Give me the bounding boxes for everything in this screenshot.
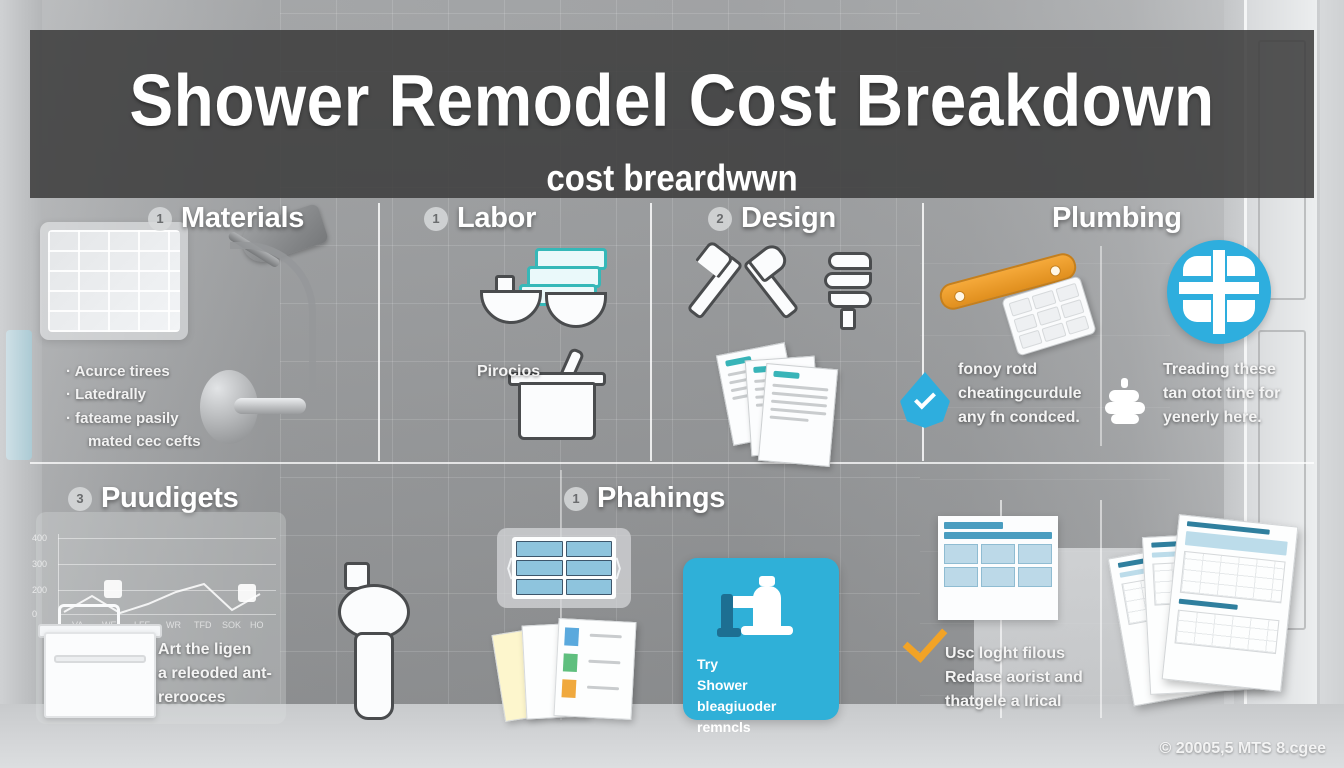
copyright-watermark: © 20005,5 MTS 8.cgee (1159, 740, 1326, 758)
faucet-icon (721, 576, 801, 640)
section-title-materials: Materials (181, 202, 304, 235)
section-badge: 2 (708, 207, 732, 231)
cta-line: remncls (697, 717, 829, 738)
note-line: cheatingcurdule (958, 382, 1088, 406)
plumbing-note-right: Treading these tan otot tine for yenerly… (1163, 358, 1313, 430)
chevron-left-icon[interactable]: ⟨ (505, 554, 514, 583)
sink-basin-icon (518, 382, 596, 440)
note-line: fonoy rotd (958, 358, 1088, 382)
chart-ytick: 0 (32, 609, 37, 619)
tile-swatch-card (40, 222, 188, 340)
cta-line: Try (697, 654, 829, 675)
chart-xtick: SOK (222, 620, 241, 630)
tablet-screen (512, 537, 616, 599)
chart-xtick: HO (250, 620, 264, 630)
note-line: yenerly here. (1163, 406, 1313, 430)
section-title-design: Design (741, 202, 836, 235)
divider-vertical-7 (1100, 500, 1102, 718)
section-design[interactable]: 2 Design (708, 202, 836, 235)
note-line: Usc loght filous (945, 642, 1095, 666)
chevron-right-icon[interactable]: ⟩ (614, 554, 623, 583)
caption-line: a releoded ant- (158, 662, 288, 686)
list-item: mated cec cefts (66, 430, 201, 453)
paper-pile-icon (1120, 520, 1320, 720)
list-item: · fateame pasily (66, 407, 201, 430)
note-line: Redase aorist and (945, 666, 1095, 690)
infographic-canvas: Shower Remodel Cost Breakdown cost brear… (0, 0, 1344, 768)
note-line: thatgele a lrical (945, 690, 1095, 714)
valve-circle-icon (1167, 240, 1271, 344)
divider-vertical-1 (378, 203, 380, 461)
materials-bullet-list: · Acurce tirees · Latedrally · fateame p… (66, 360, 201, 453)
plumbing-note-left: fonoy rotd cheatingcurdule any fn condce… (958, 358, 1088, 430)
note-line: any fn condced. (958, 406, 1088, 430)
section-title-labor: Labor (457, 202, 536, 235)
chart-ytick: 300 (32, 559, 47, 569)
page-title: Shower Remodel Cost Breakdown (0, 30, 1344, 140)
chart-xtick: TFD (194, 620, 212, 630)
section-badge: 3 (68, 487, 92, 511)
chart-marker-1 (104, 580, 122, 598)
section-materials[interactable]: 1 Materials (148, 202, 304, 235)
vanity-drawer (54, 655, 146, 663)
section-title-plumbing: Plumbing (1052, 202, 1182, 235)
divider-vertical-4 (1100, 246, 1102, 446)
section-phasings[interactable]: 1 Phahings (564, 482, 725, 515)
colored-sheets-icon (498, 620, 638, 720)
section-badge: 1 (424, 207, 448, 231)
cta-line: Shower bleagiuoder (697, 675, 829, 717)
section-title-budgets: Puudigets (101, 482, 238, 515)
chart-ytick: 200 (32, 585, 47, 595)
section-badge: 1 (564, 487, 588, 511)
note-line: tan otot tine for (1163, 382, 1313, 406)
towel (6, 330, 32, 460)
divider-vertical-2 (650, 203, 652, 461)
chart-marker-2 (238, 584, 256, 602)
chart-xtick: WR (166, 620, 181, 630)
section-labor[interactable]: 1 Labor (424, 202, 536, 235)
bottom-right-note: Usc loght filous Redase aorist and thatg… (945, 642, 1095, 714)
labor-caption: Pirocios (477, 360, 540, 384)
vanity-handle (58, 604, 120, 626)
note-line: Treading these (1163, 358, 1313, 382)
page-subtitle: cost breardwwn (30, 157, 1314, 200)
pipe-fitting-icon (1105, 378, 1147, 426)
vanity-cabinet-icon (44, 632, 156, 718)
toilet-icon (338, 562, 410, 720)
soap-dispenser-icon (495, 275, 515, 293)
section-budgets[interactable]: 3 Puudigets (68, 482, 238, 515)
caption-line: Art the ligen (158, 638, 288, 662)
list-item: · Acurce tirees (66, 360, 201, 383)
subway-tile-swatch (48, 230, 180, 332)
section-title-phasings: Phahings (597, 482, 725, 515)
caption-line: rerooces (158, 686, 288, 710)
section-badge: 1 (148, 207, 172, 231)
title-band: Shower Remodel Cost Breakdown cost brear… (30, 30, 1314, 198)
shower-valve-photo (190, 360, 310, 470)
spreadsheet-doc-icon (938, 516, 1058, 620)
list-item: · Latedrally (66, 383, 201, 406)
section-plumbing[interactable]: Plumbing (1052, 202, 1182, 235)
cta-text: Try Shower bleagiuoder remncls (697, 654, 829, 738)
cta-card[interactable]: Try Shower bleagiuoder remncls (683, 558, 839, 720)
tablet-carousel-mockup[interactable]: ⟨ ⟩ (497, 528, 631, 608)
budgets-caption: Art the ligen a releoded ant- rerooces (158, 638, 288, 710)
divider-horizontal (30, 462, 1314, 464)
chart-ytick: 400 (32, 533, 47, 543)
